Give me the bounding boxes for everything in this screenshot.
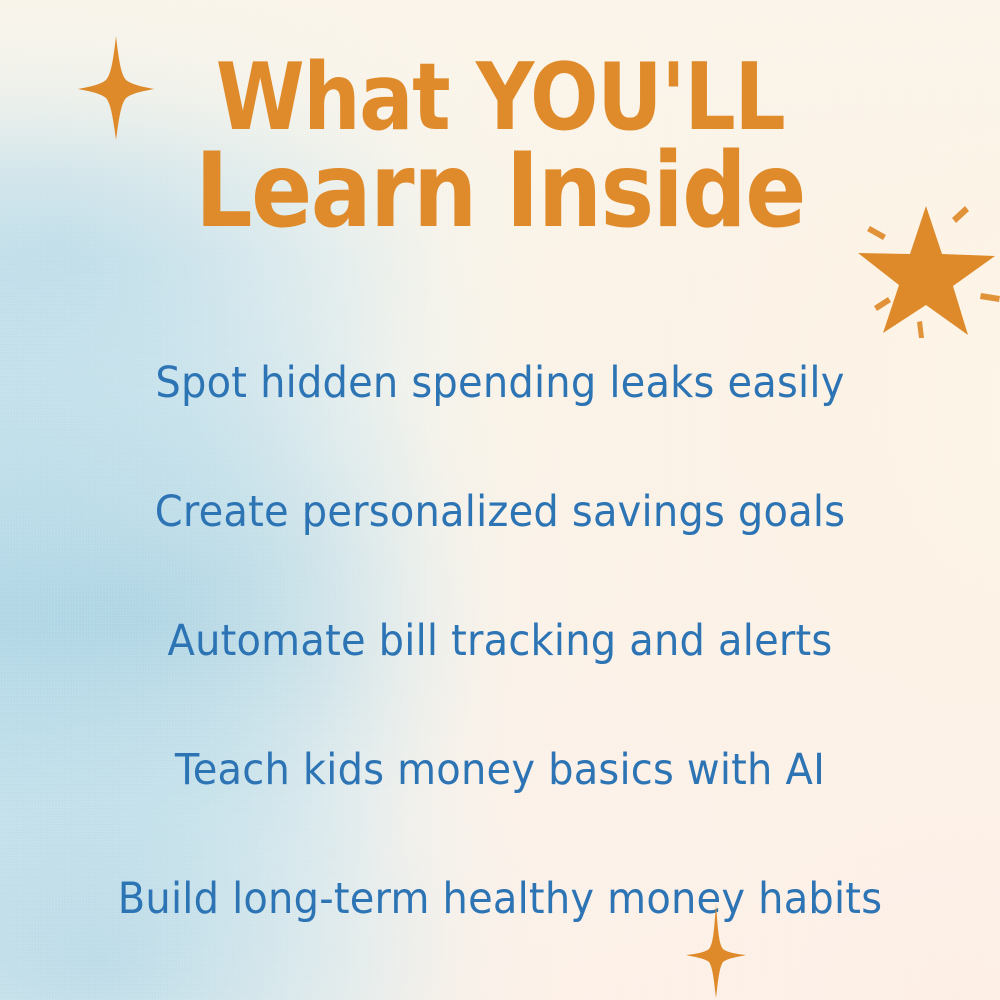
page-title-line-2: Learn Inside xyxy=(10,140,990,243)
benefit-text-2: Create personalized savings goals xyxy=(155,487,846,536)
benefit-text-1: Spot hidden spending leaks easily xyxy=(155,358,844,407)
page-title: What YOU'LL Learn Inside xyxy=(0,52,1000,232)
list-item: Create personalized savings goals xyxy=(0,447,1000,576)
benefit-text-5: Build long-term healthy money habits xyxy=(118,874,883,923)
list-item: Build long-term healthy money habits xyxy=(0,834,1000,963)
page-title-line-1: What YOU'LL xyxy=(20,52,980,143)
list-item: Automate bill tracking and alerts xyxy=(0,576,1000,705)
benefit-text-4: Teach kids money basics with AI xyxy=(175,745,825,794)
benefit-list: Spot hidden spending leaks easily Create… xyxy=(0,318,1000,963)
benefit-text-3: Automate bill tracking and alerts xyxy=(168,616,833,665)
list-item: Spot hidden spending leaks easily xyxy=(0,318,1000,447)
poster-canvas: What YOU'LL Learn Inside Spot hidden spe… xyxy=(0,0,1000,1000)
list-item: Teach kids money basics with AI xyxy=(0,705,1000,834)
